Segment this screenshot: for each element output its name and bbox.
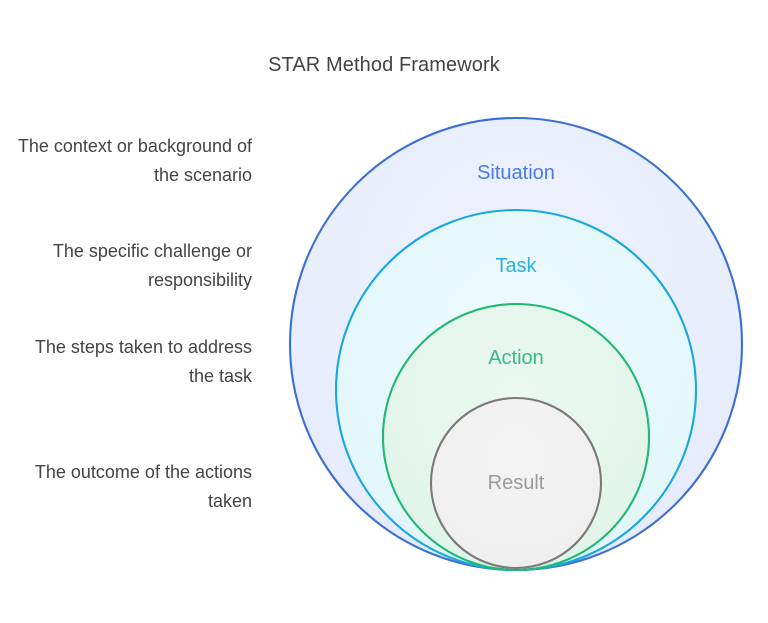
star-method-diagram: STAR Method Framework The context or bac… xyxy=(0,0,768,623)
result-label: Result xyxy=(396,470,636,496)
situation-label: Situation xyxy=(396,160,636,186)
action-label: Action xyxy=(396,345,636,371)
task-label: Task xyxy=(396,253,636,279)
nested-circles-graphic xyxy=(0,0,768,623)
